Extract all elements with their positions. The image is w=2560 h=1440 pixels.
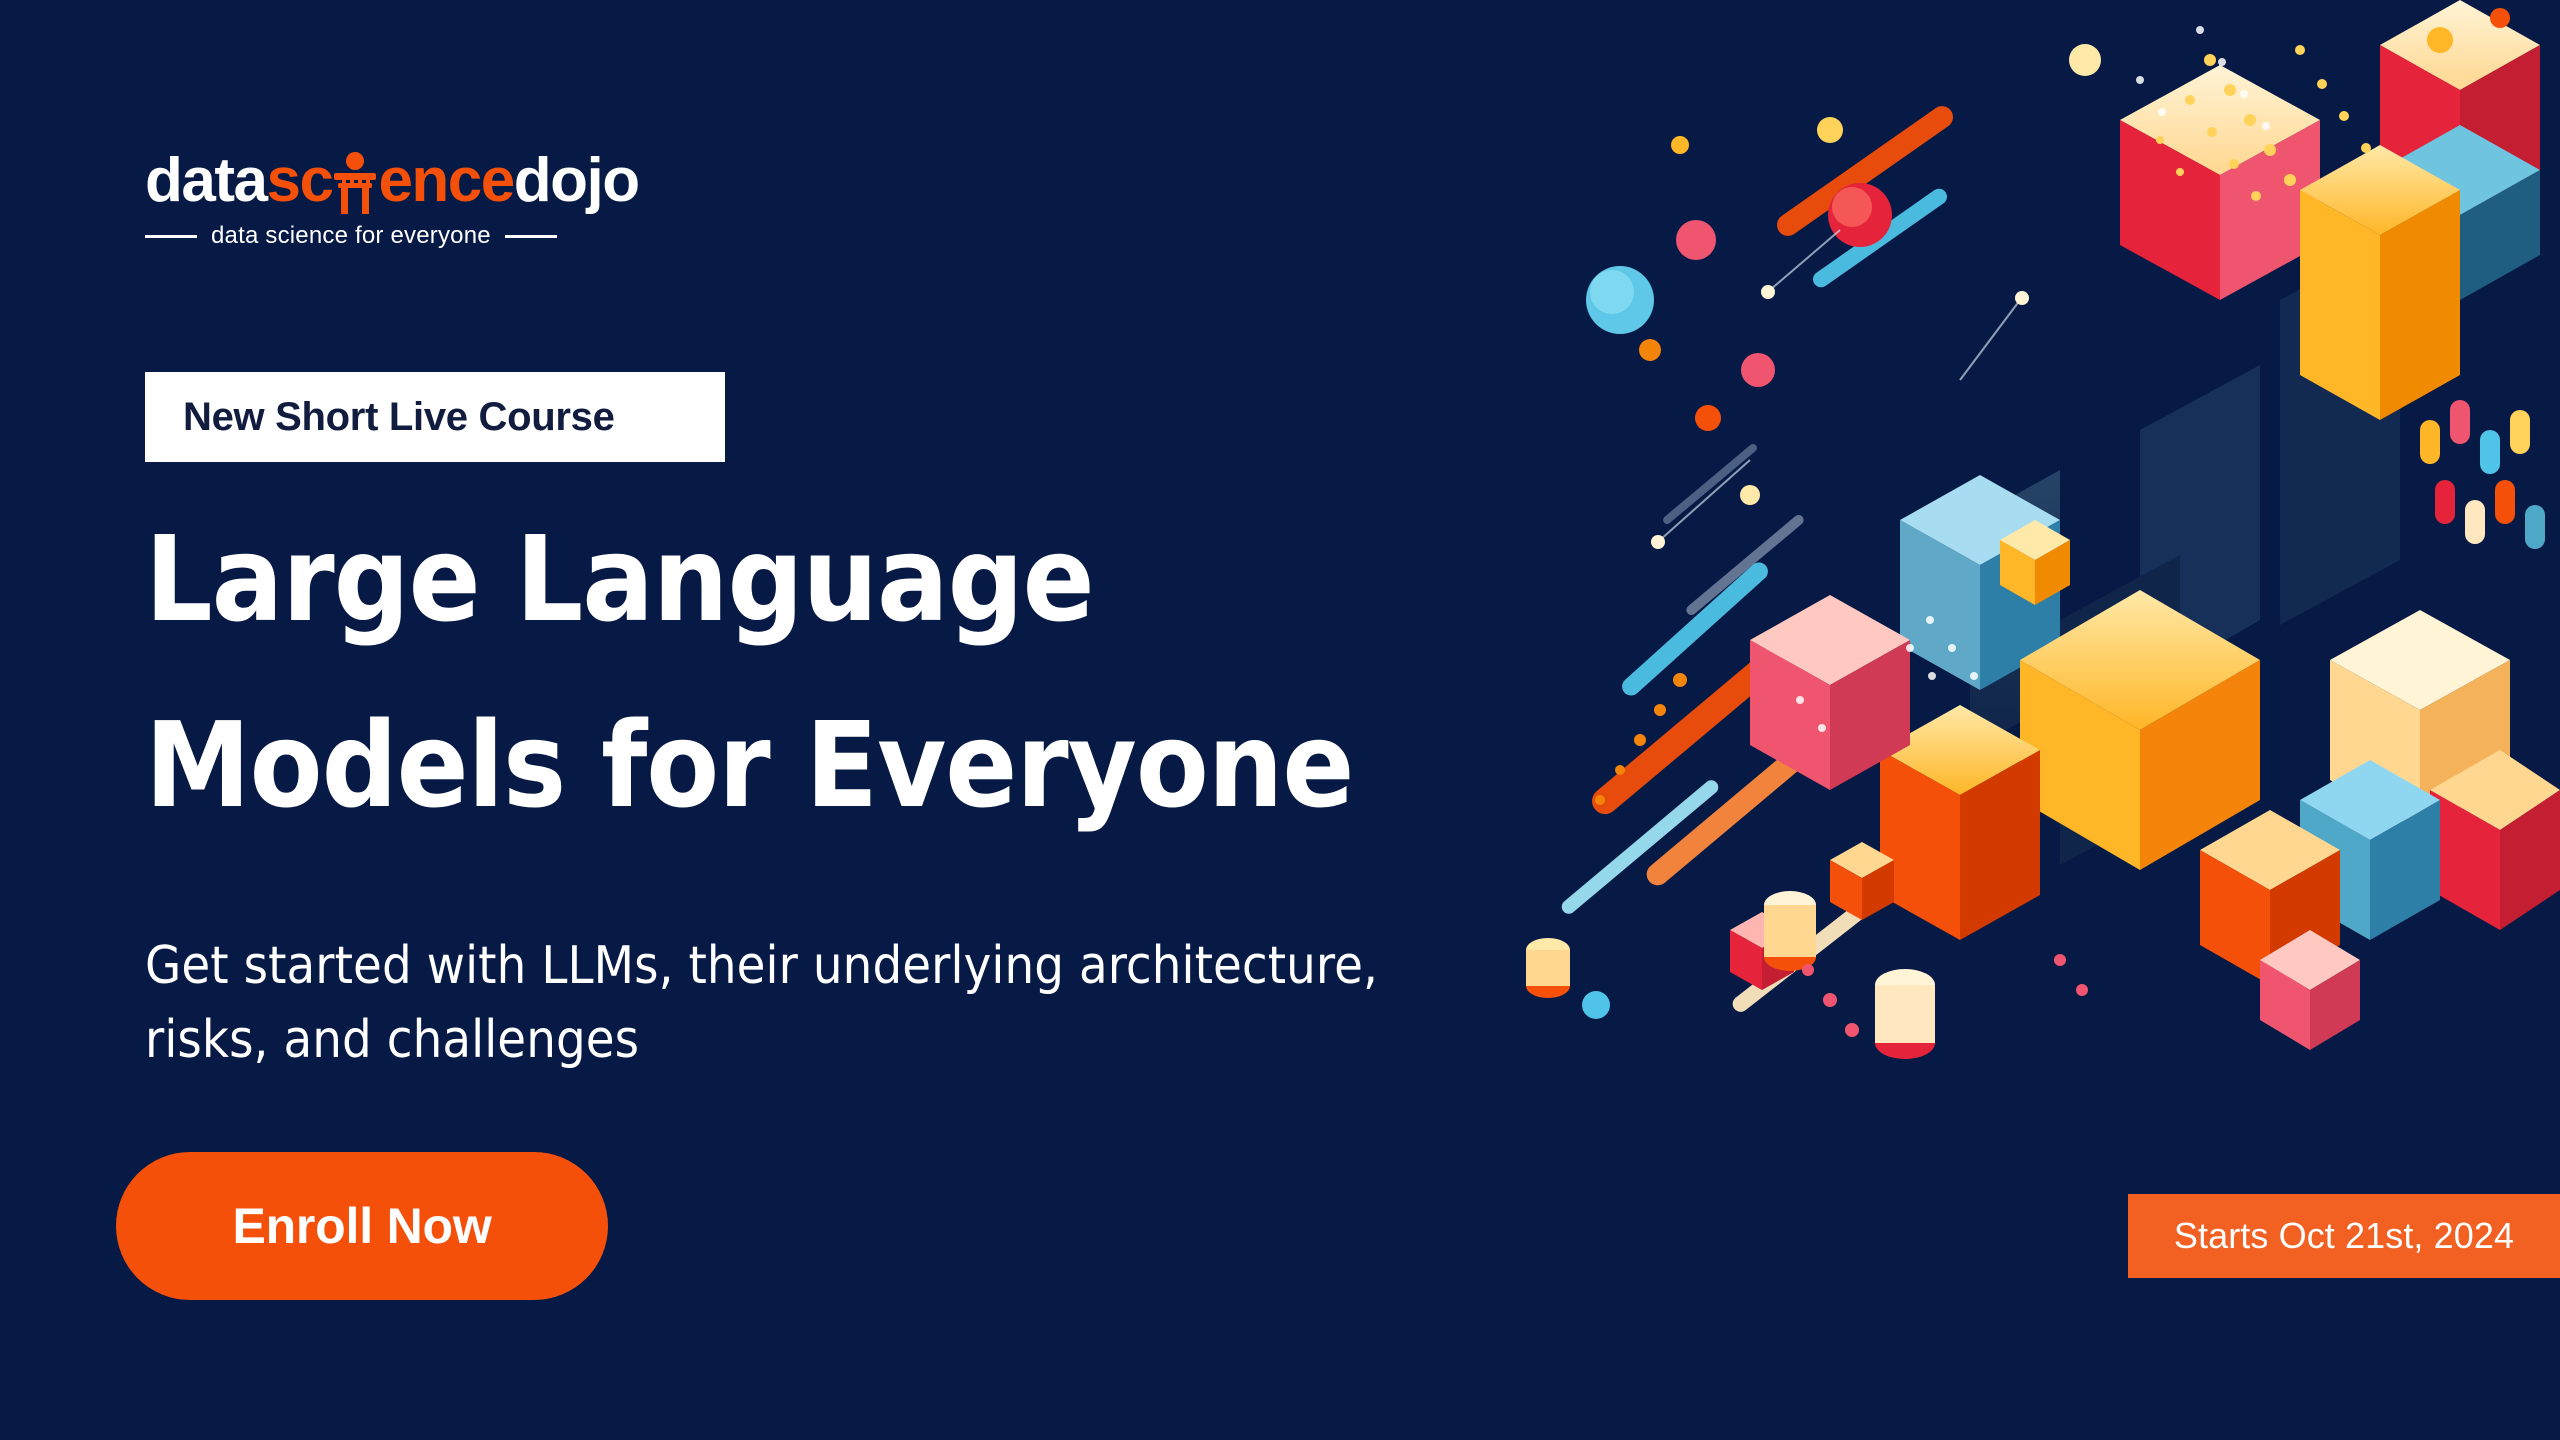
headline-line-2: Models for Everyone — [145, 706, 1495, 824]
course-type-badge: New Short Live Course — [145, 372, 725, 462]
page-title: Large Language Models for Everyone — [145, 520, 1495, 824]
course-type-badge-label: New Short Live Course — [183, 395, 615, 440]
logo-tagline-row: data science for everyone — [145, 222, 645, 250]
tagline-rule-right — [505, 235, 557, 238]
logo-wordmark: datascencedojo — [145, 150, 645, 212]
subtitle-line-2: risks, and challenges — [145, 1004, 1565, 1078]
start-date-badge: Starts Oct 21st, 2024 — [2128, 1194, 2560, 1278]
logo-text-ence: ence — [378, 150, 513, 212]
tagline-rule-left — [145, 235, 197, 238]
logo-text-dojo: dojo — [514, 150, 639, 212]
logo-text-data: data — [145, 150, 266, 212]
promo-banner: datascencedojo data science for everyone… — [0, 0, 2560, 1440]
brand-logo[interactable]: datascencedojo data science for everyone — [145, 150, 645, 250]
torii-gate-icon — [332, 150, 378, 212]
headline-line-1: Large Language — [145, 520, 1495, 638]
abstract-3d-artwork — [1500, 0, 2560, 1060]
subtitle-line-1: Get started with LLMs, their underlying … — [145, 930, 1565, 1004]
start-date-badge-label: Starts Oct 21st, 2024 — [2174, 1215, 2514, 1257]
enroll-now-button[interactable]: Enroll Now — [116, 1152, 608, 1300]
logo-tagline: data science for everyone — [211, 222, 491, 250]
page-subtitle: Get started with LLMs, their underlying … — [145, 930, 1565, 1078]
logo-text-sc: sc — [266, 150, 332, 212]
